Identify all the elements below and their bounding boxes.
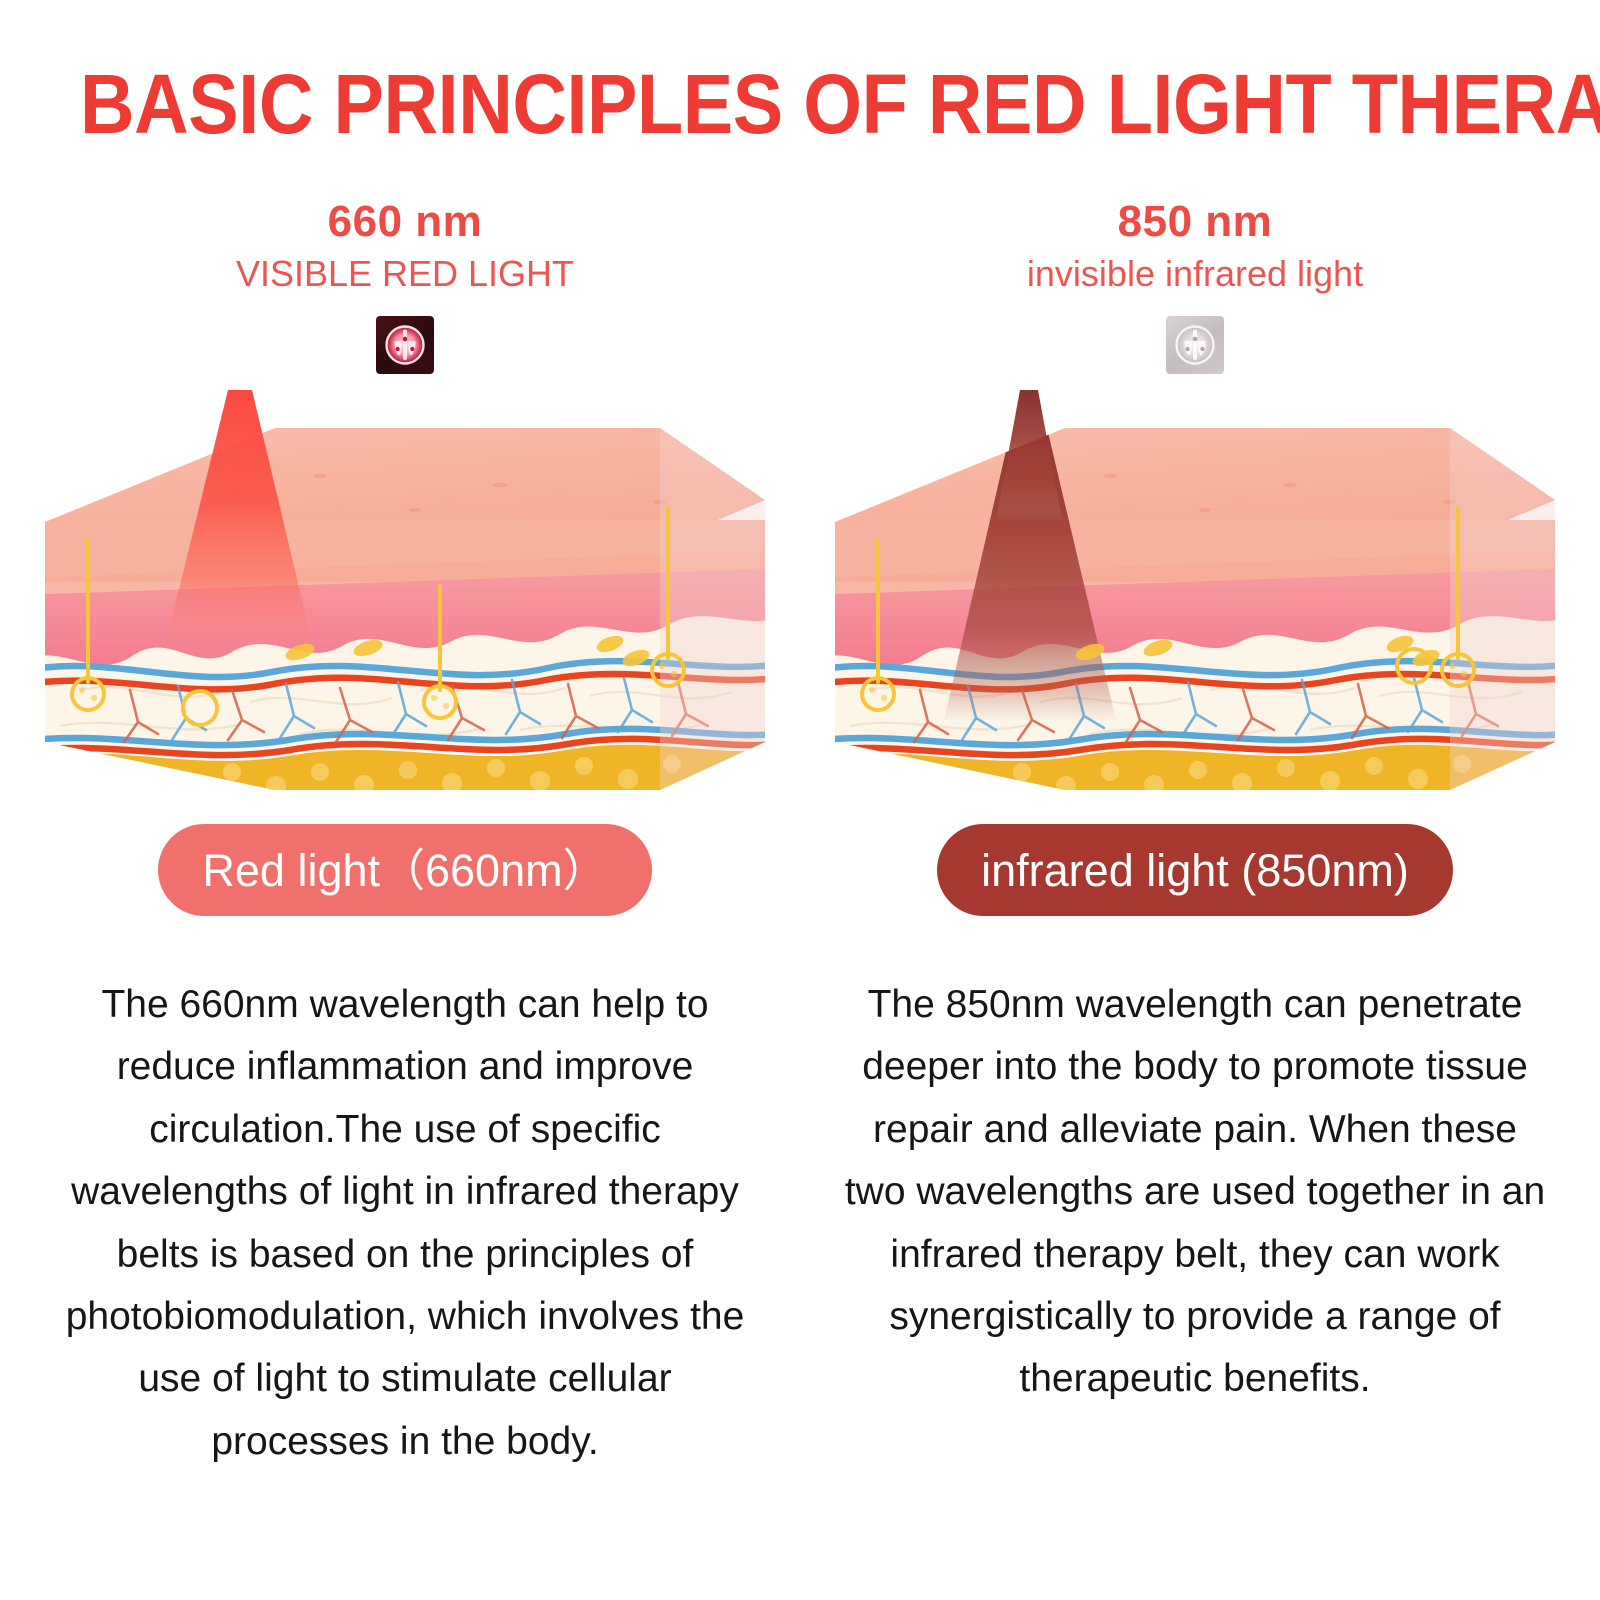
page-title: BASIC PRINCIPLES OF RED LIGHT THERAPY	[80, 62, 1520, 146]
light-type-label-850: invisible infrared light	[810, 256, 1580, 292]
pill-row-660: Red light（660nm）	[20, 824, 790, 916]
led-emitter-icon	[376, 316, 434, 374]
infographic-page: BASIC PRINCIPLES OF RED LIGHT THERAPY 66…	[0, 0, 1600, 1600]
status-badge-infrared-light[interactable]: infrared light (850nm)	[937, 824, 1453, 916]
led-emitter-wrap-850	[810, 312, 1580, 386]
light-type-label-660: VISIBLE RED LIGHT	[20, 256, 790, 292]
panel-red-light: 660 nm VISIBLE RED LIGHT	[20, 200, 790, 1580]
skin-cross-section-850nm	[810, 390, 1580, 790]
description-red-light: The 660nm wavelength can help to reduce …	[20, 974, 790, 1473]
skin-cross-section-660nm	[20, 390, 790, 790]
led-emitter-icon	[1166, 316, 1224, 374]
wavelength-label-850: 850 nm	[810, 200, 1580, 244]
led-emitter-wrap-660	[20, 312, 790, 386]
status-badge-red-light[interactable]: Red light（660nm）	[158, 824, 651, 916]
wavelength-label-660: 660 nm	[20, 200, 790, 244]
pill-row-850: infrared light (850nm)	[810, 824, 1580, 916]
description-infrared-light: The 850nm wavelength can penetrate deepe…	[810, 974, 1580, 1411]
panel-infrared-light: 850 nm invisible infrared light	[810, 200, 1580, 1580]
